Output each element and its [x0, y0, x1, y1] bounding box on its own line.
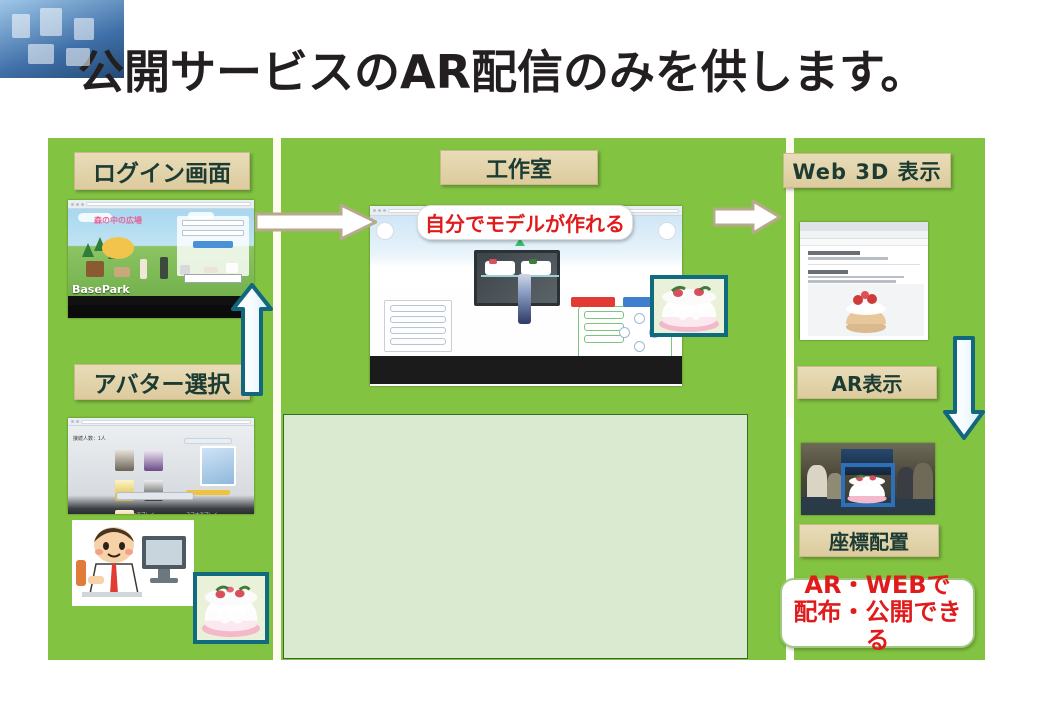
- caption-ar-display: AR表示: [797, 366, 937, 399]
- model-list-panel[interactable]: [384, 300, 452, 352]
- cake-model-thumbnail: [193, 572, 269, 644]
- enter-dressing-room-button[interactable]: [116, 492, 194, 500]
- caption-coordinate-placement: 座標配置: [799, 524, 939, 557]
- model-list-item: [390, 316, 446, 323]
- model-list-item: [390, 305, 446, 312]
- arrow-workshop-to-web3d: [713, 200, 781, 234]
- online-count-label: 接続人数：1人: [73, 435, 106, 442]
- browser-tabbar: [800, 222, 928, 231]
- bookmarks-bar: [800, 239, 928, 246]
- login-form-panel[interactable]: [177, 216, 249, 276]
- web3d-page: [800, 222, 928, 340]
- publish-line-1: AR・WEBで: [804, 572, 950, 600]
- login-hero-text: 森の中の広場: [94, 215, 142, 226]
- browser-toolbar: [800, 231, 928, 239]
- slide-canvas: 公開サービスのAR配信のみを供します。 ログイン画面 森の中の広場: [0, 0, 1040, 720]
- page-title: 公開サービスのAR配信のみを供します。: [78, 36, 926, 102]
- screenshot-avatar-select: 接続人数：1人 2022-05-17 11:48:42 5km PCでプレイ ス…: [68, 418, 254, 514]
- footer-bar: [68, 296, 254, 305]
- avatar-timestamp: 2022-05-17 11:48:42 5km: [72, 513, 123, 514]
- menu-icon[interactable]: [658, 222, 676, 240]
- model-viewer[interactable]: [808, 284, 924, 336]
- os-taskbar: [370, 356, 682, 368]
- register-button[interactable]: [184, 274, 242, 283]
- arrow-web3d-to-ar: [943, 336, 985, 440]
- size-row[interactable]: [584, 335, 624, 343]
- brand-logo: BasePark: [72, 283, 130, 296]
- back-icon[interactable]: [376, 222, 394, 240]
- avatar-panel: 接続人数：1人 2022-05-17 11:48:42 5km PCでプレイ ス…: [68, 426, 254, 514]
- play-mobile-label: スマホでプレイ: [186, 512, 217, 514]
- ar-anchor-frame: [841, 463, 895, 507]
- play-pc-label: PCでプレイ: [130, 512, 154, 514]
- callout-make-your-own-model: 自分でモデルが作れる: [417, 205, 633, 240]
- cake-model-preview: [650, 275, 728, 337]
- login-scene: 森の中の広場 BasePark: [68, 209, 254, 305]
- caption-login-screen: ログイン画面: [74, 152, 250, 190]
- photo-ar-in-meeting-room: [801, 443, 935, 515]
- caption-workshop: 工作室: [440, 150, 598, 185]
- login-submit-button[interactable]: [193, 241, 233, 248]
- avatar-grid[interactable]: [112, 448, 188, 514]
- position-row[interactable]: [584, 311, 624, 319]
- avatar-option[interactable]: [115, 450, 134, 471]
- model-list-item: [390, 338, 446, 345]
- browser-chrome: [68, 418, 254, 426]
- caption-web-3d-display: Web 3D 表示: [783, 153, 951, 188]
- empty-content-panel: [283, 414, 748, 659]
- callout-publish-ar-web: AR・WEBで 配布・公開できる: [780, 578, 975, 648]
- avatar-detail-button[interactable]: [184, 438, 232, 444]
- email-field[interactable]: [182, 220, 244, 226]
- screenshot-login-screen: 森の中の広場 BasePark: [68, 200, 254, 318]
- password-field[interactable]: [182, 230, 244, 236]
- person-at-computer-illustration: [72, 520, 194, 606]
- publish-line-2: 配布・公開できる: [782, 599, 973, 654]
- browser-chrome: [68, 200, 254, 209]
- display-case-model: [474, 250, 560, 306]
- operation-help-button[interactable]: [571, 297, 615, 307]
- arrow-login-to-workshop: [255, 204, 377, 240]
- avatar-option[interactable]: [144, 450, 163, 471]
- screenshot-web-3d: [800, 222, 928, 340]
- model-list-item: [390, 327, 446, 334]
- avatar-preview: [200, 446, 236, 486]
- rotation-row[interactable]: [584, 323, 624, 331]
- avatar-model: [518, 274, 531, 324]
- arrow-avatar-to-login: [231, 283, 273, 396]
- caption-avatar-select: アバター選択: [74, 364, 250, 400]
